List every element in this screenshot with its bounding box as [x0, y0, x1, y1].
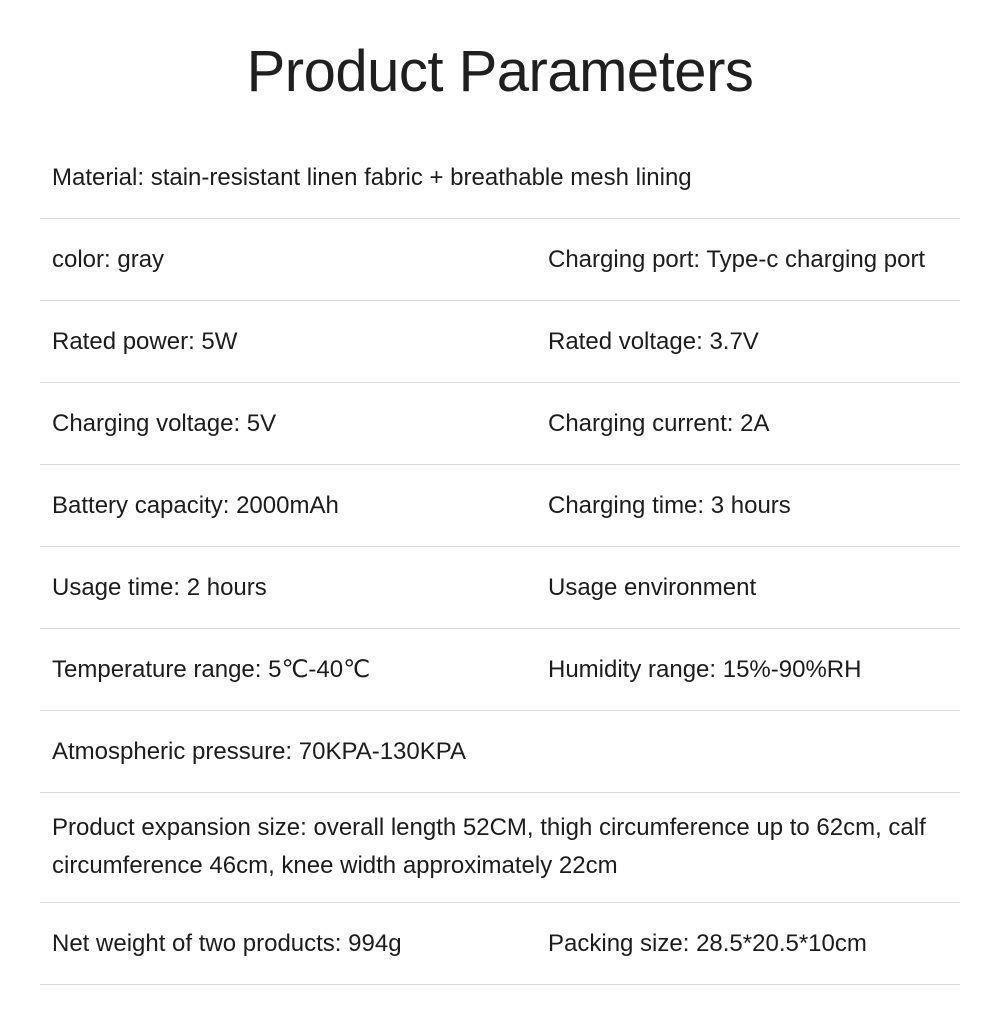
spec-usage-time: Usage time: 2 hours	[40, 559, 548, 616]
table-row: Rated power: 5W Rated voltage: 3.7V	[40, 301, 960, 383]
spec-atmospheric-pressure: Atmospheric pressure: 70KPA-130KPA	[40, 723, 960, 780]
spec-material: Material: stain-resistant linen fabric +…	[40, 149, 960, 206]
specifications-table: Material: stain-resistant linen fabric +…	[0, 137, 1000, 985]
spec-humidity-range: Humidity range: 15%-90%RH	[548, 641, 960, 698]
table-row: Usage time: 2 hours Usage environment	[40, 547, 960, 629]
table-row: Battery capacity: 2000mAh Charging time:…	[40, 465, 960, 547]
table-row: color: gray Charging port: Type-c chargi…	[40, 219, 960, 301]
spec-charging-time: Charging time: 3 hours	[548, 477, 960, 534]
spec-charging-current: Charging current: 2A	[548, 395, 960, 452]
table-row: Net weight of two products: 994g Packing…	[40, 903, 960, 985]
spec-packing-size: Packing size: 28.5*20.5*10cm	[548, 915, 960, 972]
table-row: Temperature range: 5℃-40℃ Humidity range…	[40, 629, 960, 711]
spec-usage-environment: Usage environment	[548, 559, 960, 616]
spec-net-weight: Net weight of two products: 994g	[40, 915, 548, 972]
spec-charging-port: Charging port: Type-c charging port	[548, 231, 960, 288]
table-row: Material: stain-resistant linen fabric +…	[40, 137, 960, 219]
table-row: Charging voltage: 5V Charging current: 2…	[40, 383, 960, 465]
page-title: Product Parameters	[0, 0, 1000, 103]
spec-rated-voltage: Rated voltage: 3.7V	[548, 313, 960, 370]
table-row: Product expansion size: overall length 5…	[40, 793, 960, 903]
spec-temperature-range: Temperature range: 5℃-40℃	[40, 641, 548, 698]
table-row: Atmospheric pressure: 70KPA-130KPA	[40, 711, 960, 793]
spec-color: color: gray	[40, 231, 548, 288]
spec-product-expansion-size: Product expansion size: overall length 5…	[40, 799, 960, 896]
spec-charging-voltage: Charging voltage: 5V	[40, 395, 548, 452]
spec-battery-capacity: Battery capacity: 2000mAh	[40, 477, 548, 534]
product-parameters-page: Product Parameters Material: stain-resis…	[0, 0, 1000, 1000]
spec-rated-power: Rated power: 5W	[40, 313, 548, 370]
